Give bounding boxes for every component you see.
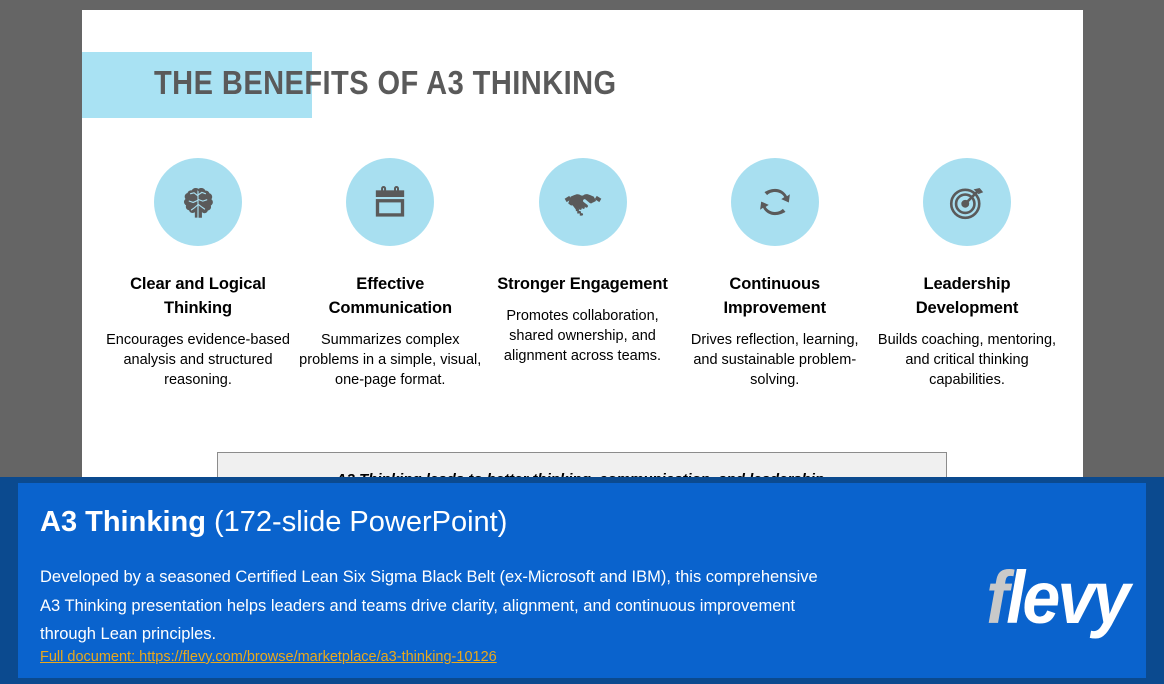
benefit-column-clear-and-logical-thinking: Clear and Logical Thinking Encourages ev… bbox=[102, 158, 294, 390]
refresh-cycle-icon bbox=[754, 181, 796, 223]
full-document-link[interactable]: Full document: https://flevy.com/browse/… bbox=[40, 649, 497, 665]
benefit-title: Stronger Engagement bbox=[497, 272, 667, 296]
benefit-title: Leadership Development bbox=[871, 272, 1063, 320]
benefit-body: Builds coaching, mentoring, and critical… bbox=[871, 330, 1063, 390]
benefit-body: Drives reflection, learning, and sustain… bbox=[679, 330, 871, 390]
benefit-column-effective-communication: Effective Communication Summarizes compl… bbox=[294, 158, 486, 390]
document-title-name: A3 Thinking bbox=[40, 506, 206, 538]
target-arrow-icon bbox=[946, 181, 988, 223]
icon-circle bbox=[346, 158, 434, 246]
benefit-title: Continuous Improvement bbox=[679, 272, 871, 320]
benefit-body: Summarizes complex problems in a simple,… bbox=[294, 330, 486, 390]
slide-title-area: THE BENEFITS OF A3 THINKING bbox=[82, 52, 1083, 128]
icon-circle bbox=[923, 158, 1011, 246]
icon-circle bbox=[731, 158, 819, 246]
benefit-title: Clear and Logical Thinking bbox=[102, 272, 294, 320]
benefit-body: Promotes collaboration, shared ownership… bbox=[487, 306, 679, 366]
benefit-columns: Clear and Logical Thinking Encourages ev… bbox=[102, 158, 1063, 390]
calendar-board-icon bbox=[370, 182, 410, 222]
handshake-icon bbox=[561, 180, 605, 224]
slide-canvas: THE BENEFITS OF A3 THINKING bbox=[82, 10, 1083, 477]
flevy-logo-f: f bbox=[987, 556, 1007, 639]
benefit-column-leadership-development: Leadership Development Builds coaching, … bbox=[871, 158, 1063, 390]
benefit-column-stronger-engagement: Stronger Engagement Promotes collaborati… bbox=[487, 158, 679, 390]
icon-circle bbox=[154, 158, 242, 246]
flevy-logo[interactable]: flevy bbox=[987, 561, 1128, 635]
document-title: A3 Thinking (172-slide PowerPoint) bbox=[40, 506, 507, 539]
benefit-column-continuous-improvement: Continuous Improvement Drives reflection… bbox=[679, 158, 871, 390]
document-title-meta: (172-slide PowerPoint) bbox=[206, 506, 507, 538]
page-title: THE BENEFITS OF A3 THINKING bbox=[154, 61, 617, 105]
benefit-title: Effective Communication bbox=[294, 272, 486, 320]
benefit-body: Encourages evidence-based analysis and s… bbox=[102, 330, 294, 390]
callout-box: A3 Thinking leads to better thinking, co… bbox=[217, 452, 947, 477]
icon-circle bbox=[539, 158, 627, 246]
banner-inner-panel: A3 Thinking (172-slide PowerPoint) Devel… bbox=[18, 483, 1146, 678]
callout-text: A3 Thinking leads to better thinking, co… bbox=[236, 469, 928, 477]
brain-icon bbox=[177, 181, 219, 223]
document-description: Developed by a seasoned Certified Lean S… bbox=[40, 563, 830, 649]
flevy-logo-levy: levy bbox=[1007, 556, 1128, 639]
flevy-promo-banner: A3 Thinking (172-slide PowerPoint) Devel… bbox=[0, 477, 1164, 684]
